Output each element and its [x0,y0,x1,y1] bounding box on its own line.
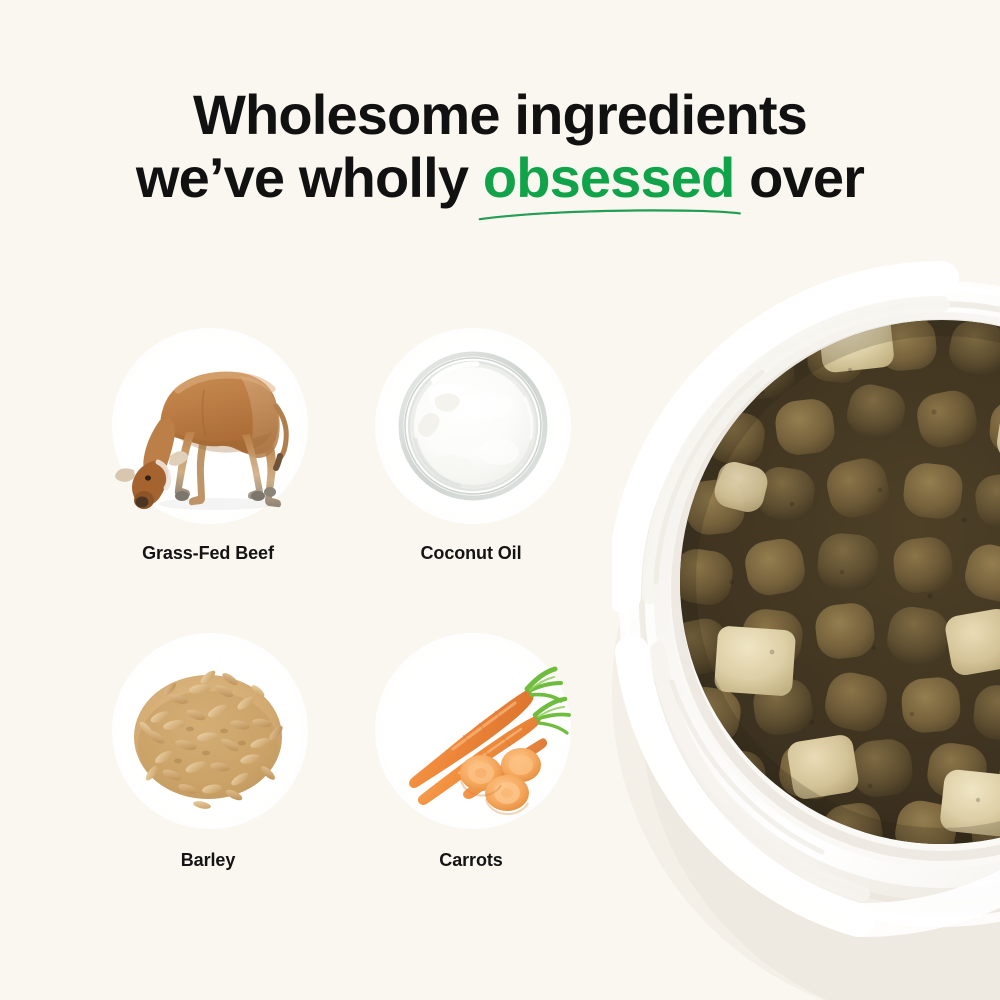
ingredient-label: Carrots [351,850,591,871]
ad-creative-canvas: Wholesome ingredients we’ve wholly obses… [0,0,1000,1000]
heading-line-1: Wholesome ingredients [0,86,1000,143]
heading-text-after: over [734,146,864,209]
heading-highlight-text: obsessed [483,146,735,209]
ingredient-label: Grass-Fed Beef [88,543,328,564]
ingredient-item-coconut-oil[interactable]: Coconut Oil [351,318,591,618]
ingredient-label: Barley [88,850,328,871]
ingredient-item-barley[interactable]: Barley [88,623,328,923]
dog-food-bowl-photo-icon [612,252,1000,1000]
coconut-oil-jar-photo-icon [375,328,571,524]
barley-grains-photo-icon [112,633,308,829]
ingredient-item-carrots[interactable]: Carrots [351,623,591,923]
ingredient-item-grass-fed-beef[interactable]: Grass-Fed Beef [88,318,328,618]
heading-text-before: we’ve wholly [136,146,483,209]
cow-photo-icon [112,328,308,524]
heading-highlight-word: obsessed [483,149,735,206]
carrots-photo-icon [375,633,571,829]
ingredient-label: Coconut Oil [351,543,591,564]
page-title: Wholesome ingredients we’ve wholly obses… [0,86,1000,206]
heading-line-2: we’ve wholly obsessed over [0,149,1000,206]
